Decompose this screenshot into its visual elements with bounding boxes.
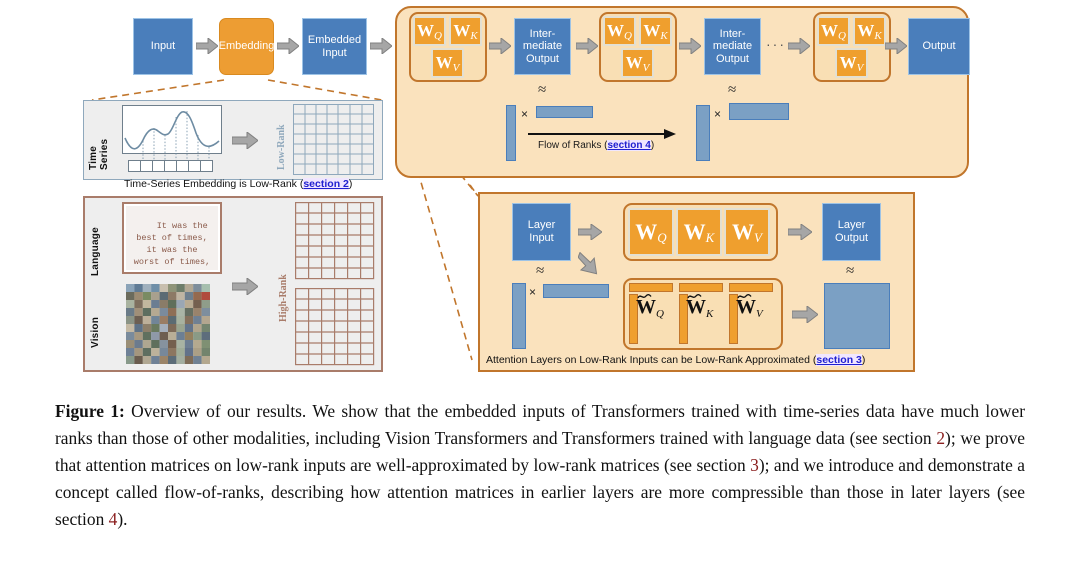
- caption-text-1: Overview of our results. We show that th…: [55, 401, 1025, 448]
- layer2-wv-box: WV: [621, 48, 654, 78]
- wk-label: WK: [684, 219, 715, 246]
- output-label: Output: [922, 40, 955, 53]
- layer-output-label: Layer Output: [835, 219, 868, 244]
- language-sample-text: It was the best of times, it was the wor…: [124, 208, 220, 280]
- language-row-label: Language: [90, 206, 101, 276]
- approx-wv-wide-bar: [729, 283, 773, 292]
- layer-output-squiggle: ≈: [846, 263, 854, 280]
- low-rank-label: Low-Rank: [276, 112, 287, 170]
- wq-label: WQ: [607, 21, 632, 42]
- caption-text-4: ).: [117, 509, 127, 529]
- approx-wk-tilde: [687, 292, 703, 300]
- input-box: Input: [133, 18, 193, 75]
- vision-row-label: Vision: [90, 300, 101, 348]
- input-label: Input: [151, 40, 175, 53]
- wk-label: WK: [857, 21, 881, 42]
- layer2-wq-box: WQ: [603, 16, 636, 46]
- wv-label: WV: [626, 53, 650, 74]
- wv-label: WV: [436, 53, 460, 74]
- figure-caption-label: Figure 1:: [55, 401, 125, 421]
- section-3-link[interactable]: section 3: [816, 354, 862, 366]
- approx-wq-tilde: [637, 292, 653, 300]
- intermediate-output-label-1: Inter- mediate Output: [523, 28, 562, 66]
- flow-of-ranks-arrow: [528, 128, 678, 140]
- section-4-link-flow[interactable]: section 4: [607, 140, 650, 151]
- wv-label: WV: [732, 219, 762, 246]
- approx-wv-tilde: [737, 292, 753, 300]
- layer-rank-bar-wide: [543, 284, 609, 298]
- wq-label: WQ: [821, 21, 846, 42]
- layer-input-box: Layer Input: [512, 203, 571, 261]
- wk-label: WK: [643, 21, 667, 42]
- layer-wk-box: WK: [676, 208, 722, 256]
- wk-label: WK: [453, 21, 477, 42]
- layer-input-squiggle: ≈: [536, 263, 544, 280]
- times-symbol-2: ×: [714, 107, 721, 121]
- layerN-wv-box: WV: [835, 48, 868, 78]
- intermediate-output-label-2: Inter- mediate Output: [713, 28, 752, 66]
- high-rank-grid-language: [295, 202, 375, 280]
- embedding-box: Embedding: [219, 18, 274, 75]
- arrow-approx-to-output-block: [792, 306, 818, 323]
- embedding-label: Embedding: [219, 40, 275, 53]
- layer1-wq-box: WQ: [413, 16, 446, 46]
- stack-ellipsis: ···: [766, 36, 786, 52]
- time-series-row-label: Time Series: [88, 112, 110, 170]
- layer-wq-box: WQ: [628, 208, 674, 256]
- layer-times-symbol: ×: [529, 285, 536, 299]
- wq-label: WQ: [417, 21, 442, 42]
- rank-bar-tall-2: [696, 105, 710, 161]
- layer-rank-bar-tall: [512, 283, 526, 349]
- rank-bar-wide-1: [536, 106, 593, 118]
- figure-caption: Figure 1: Overview of our results. We sh…: [55, 398, 1025, 533]
- flow-of-ranks-label: Flow of Ranks (section 4): [538, 140, 654, 151]
- section-2-link[interactable]: section 2: [303, 178, 349, 190]
- approx-output-block: [824, 283, 890, 349]
- arrow-weights-to-layeroutput: [788, 224, 812, 240]
- arrow-ellipsis-to-layerN: [788, 38, 810, 54]
- arrow-input-to-embedding: [196, 38, 218, 54]
- vision-image-grid: [126, 284, 210, 364]
- wv-label: WV: [840, 53, 864, 74]
- layer1-wk-box: WK: [449, 16, 482, 46]
- layerN-wk-box: WK: [853, 16, 886, 46]
- times-symbol-1: ×: [521, 107, 528, 121]
- arrow-timeseries-to-lowrank: [232, 132, 258, 149]
- embedded-input-label: Embedded Input: [308, 34, 361, 59]
- approx-wq-wide-bar: [629, 283, 673, 292]
- intermediate-output-box-2: Inter- mediate Output: [704, 18, 761, 75]
- low-rank-grid: [293, 104, 375, 176]
- layer1-wv-box: WV: [431, 48, 464, 78]
- section-ref-3[interactable]: 3: [750, 455, 759, 475]
- layer-input-label: Layer Input: [528, 219, 556, 244]
- arrow-layerinput-to-approx: [578, 252, 608, 278]
- embedded-input-box: Embedded Input: [302, 18, 367, 75]
- high-rank-label: High-Rank: [278, 260, 289, 322]
- output-box: Output: [908, 18, 970, 75]
- arrow-layer2-to-inter2: [679, 38, 701, 54]
- arrow-layerN-to-output: [885, 38, 907, 54]
- section-ref-2[interactable]: 2: [936, 428, 945, 448]
- time-series-caption: Time-Series Embedding is Low-Rank (secti…: [124, 178, 352, 190]
- layer-output-box: Layer Output: [822, 203, 881, 261]
- arrow-embedding-to-embedded: [277, 38, 299, 54]
- arrow-langvision-to-highrank: [232, 278, 258, 295]
- section-ref-4[interactable]: 4: [109, 509, 118, 529]
- layerN-wq-box: WQ: [817, 16, 850, 46]
- arrow-layerinput-to-weights: [578, 224, 602, 240]
- arrow-layer1-to-inter1: [489, 38, 511, 54]
- approx-squiggle-2: ≈: [728, 82, 736, 99]
- time-series-token-boxes: [128, 160, 216, 173]
- approx-squiggle-1: ≈: [538, 82, 546, 99]
- high-rank-grid-vision: [295, 288, 375, 366]
- intermediate-output-box-1: Inter- mediate Output: [514, 18, 571, 75]
- layer-panel-caption: Attention Layers on Low-Rank Inputs can …: [486, 354, 865, 366]
- layer2-wk-box: WK: [639, 16, 672, 46]
- rank-bar-wide-2: [729, 103, 789, 120]
- time-series-plot: [122, 105, 222, 165]
- layer-wv-box: WV: [724, 208, 770, 256]
- approx-wk-wide-bar: [679, 283, 723, 292]
- figure-diagram: Input Embedding Embedded Input WQ WK WV …: [0, 0, 1080, 390]
- arrow-inter1-to-layer2: [576, 38, 598, 54]
- arrow-embedded-to-transformer: [370, 38, 392, 54]
- wq-label: WQ: [635, 219, 666, 246]
- rank-bar-tall-1: [506, 105, 516, 161]
